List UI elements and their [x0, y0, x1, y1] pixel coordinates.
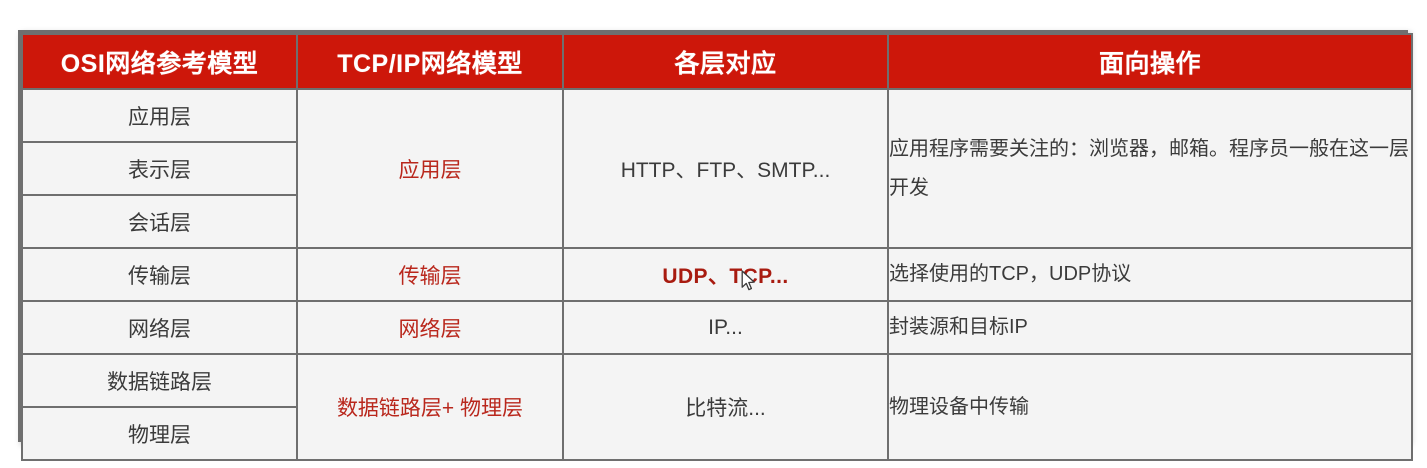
osi-layer-transport: 传输层 — [22, 248, 297, 301]
table-row: 传输层 传输层 UDP、TCP... 选择使用的TCP，UDP协议 — [22, 248, 1412, 301]
tcpip-layer-application: 应用层 — [297, 89, 563, 248]
osi-tcpip-comparison-table: OSI网络参考模型 TCP/IP网络模型 各层对应 面向操作 应用层 应用层 H… — [18, 30, 1408, 442]
header-operations: 面向操作 — [888, 34, 1412, 89]
osi-layer-presentation: 表示层 — [22, 142, 297, 195]
osi-layer-physical: 物理层 — [22, 407, 297, 460]
mapping-network: IP... — [563, 301, 888, 354]
operation-transport: 选择使用的TCP，UDP协议 — [888, 248, 1412, 301]
tcpip-layer-datalink-physical: 数据链路层+ 物理层 — [297, 354, 563, 460]
table-row: 数据链路层 数据链路层+ 物理层 比特流... 物理设备中传输 — [22, 354, 1412, 407]
header-osi-model: OSI网络参考模型 — [22, 34, 297, 89]
tcpip-layer-transport: 传输层 — [297, 248, 563, 301]
tcpip-layer-network: 网络层 — [297, 301, 563, 354]
comparison-table: OSI网络参考模型 TCP/IP网络模型 各层对应 面向操作 应用层 应用层 H… — [21, 33, 1413, 461]
table-row: 网络层 网络层 IP... 封装源和目标IP — [22, 301, 1412, 354]
osi-layer-datalink: 数据链路层 — [22, 354, 297, 407]
mapping-datalink-physical: 比特流... — [563, 354, 888, 460]
mapping-application: HTTP、FTP、SMTP... — [563, 89, 888, 248]
table-header: OSI网络参考模型 TCP/IP网络模型 各层对应 面向操作 — [22, 34, 1412, 89]
mapping-transport: UDP、TCP... — [563, 248, 888, 301]
operation-datalink-physical: 物理设备中传输 — [888, 354, 1412, 460]
osi-layer-session: 会话层 — [22, 195, 297, 248]
header-row: OSI网络参考模型 TCP/IP网络模型 各层对应 面向操作 — [22, 34, 1412, 89]
table-row: 应用层 应用层 HTTP、FTP、SMTP... 应用程序需要关注的：浏览器，邮… — [22, 89, 1412, 142]
header-tcpip-model: TCP/IP网络模型 — [297, 34, 563, 89]
osi-layer-network: 网络层 — [22, 301, 297, 354]
header-layer-mapping: 各层对应 — [563, 34, 888, 89]
operation-network: 封装源和目标IP — [888, 301, 1412, 354]
operation-application: 应用程序需要关注的：浏览器，邮箱。程序员一般在这一层开发 — [888, 89, 1412, 248]
page-canvas: OSI网络参考模型 TCP/IP网络模型 各层对应 面向操作 应用层 应用层 H… — [0, 0, 1427, 468]
table-body: 应用层 应用层 HTTP、FTP、SMTP... 应用程序需要关注的：浏览器，邮… — [22, 89, 1412, 460]
osi-layer-application: 应用层 — [22, 89, 297, 142]
